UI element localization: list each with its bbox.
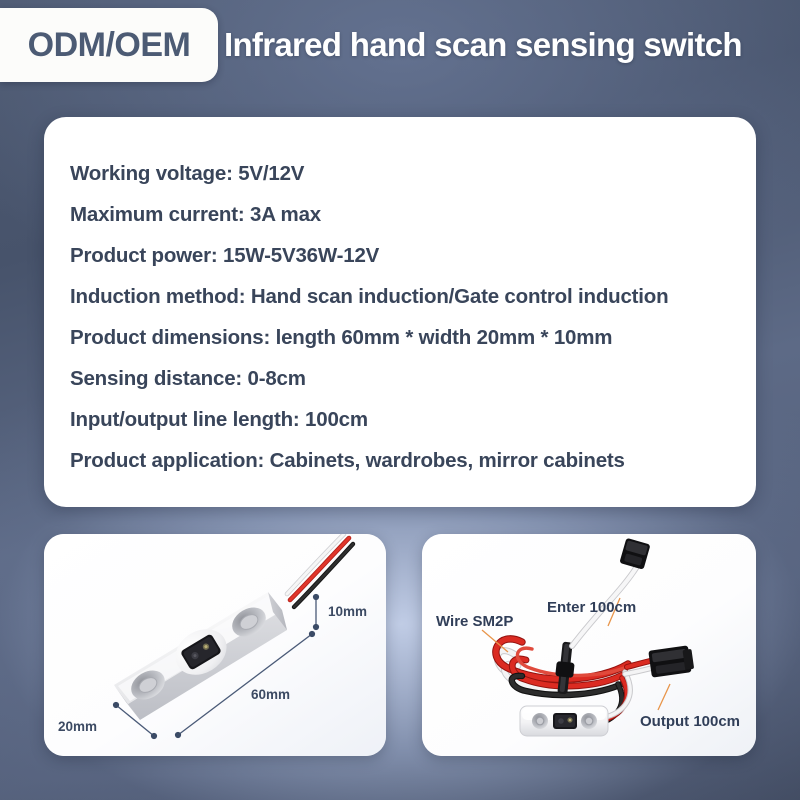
sensor-module-dimensions-photo: 10mm 60mm 20mm 10mm 60mm 20mm (44, 534, 386, 756)
spec-line-line-length: Input/output line length: 100cm (70, 399, 756, 440)
callout-wire-sm2p: Wire SM2P (436, 613, 513, 630)
spec-line-induction-method: Induction method: Hand scan induction/Ga… (70, 276, 756, 317)
spec-line-working-voltage: Working voltage: 5V/12V (70, 153, 756, 194)
spec-line-maximum-current: Maximum current: 3A max (70, 194, 756, 235)
spec-line-sensing-distance: Sensing distance: 0-8cm (70, 358, 756, 399)
svg-text:60mm: 60mm (251, 687, 290, 702)
spec-line-product-dimensions: Product dimensions: length 60mm * width … (70, 317, 756, 358)
sensor-module-front-view (520, 706, 608, 736)
wire-harness-photo: Wire SM2P Enter 100cm Output 100cm Wire … (422, 534, 756, 756)
odm-oem-badge: ODM/OEM (0, 8, 218, 82)
svg-text:10mm: 10mm (328, 604, 367, 619)
svg-text:20mm: 20mm (58, 719, 97, 734)
callout-enter: Enter 100cm (547, 599, 636, 616)
callout-output: Output 100cm (640, 713, 740, 730)
infographic-page: ODM/OEM Infrared hand scan sensing switc… (0, 0, 800, 800)
odm-oem-badge-label: ODM/OEM (28, 26, 191, 65)
spec-line-product-application: Product application: Cabinets, wardrobes… (70, 440, 756, 481)
page-title: Infrared hand scan sensing switch (224, 8, 742, 82)
specification-card: Working voltage: 5V/12V Maximum current:… (44, 117, 756, 507)
spec-line-product-power: Product power: 15W-5V36W-12V (70, 235, 756, 276)
